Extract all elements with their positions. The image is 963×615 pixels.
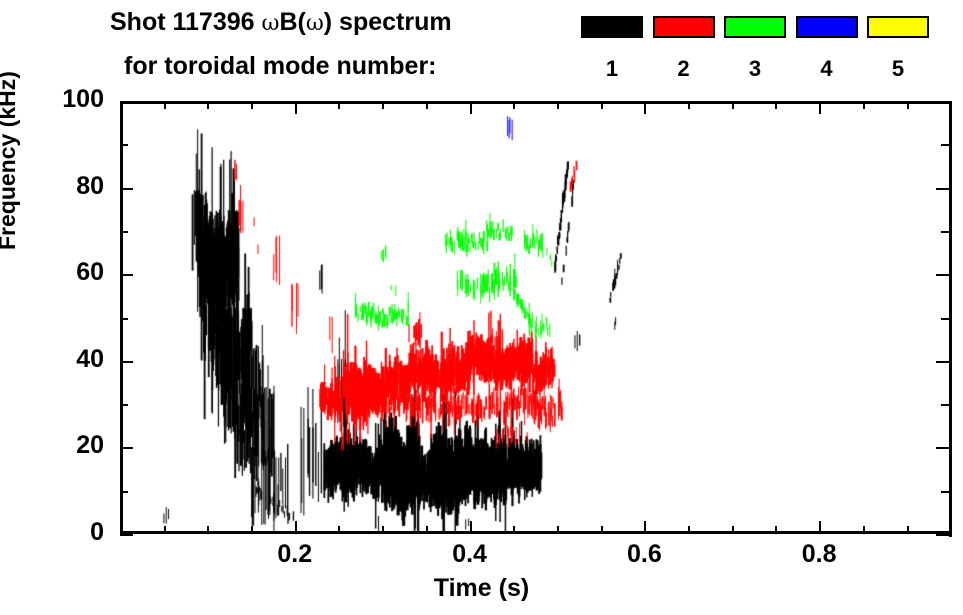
x-tick-major-0.80: [819, 521, 821, 534]
x-tick-top-0.75: [775, 101, 777, 109]
x-tick-label-0.4: 0.4: [425, 540, 515, 569]
y-tick-major-0: [120, 534, 133, 536]
x-tick-top-0.50: [557, 101, 559, 109]
y-tick-major-40: [120, 361, 133, 363]
x-tick-top-0.05: [164, 101, 166, 109]
x-tick-top-0.85: [863, 101, 865, 109]
x-tick-major-0.20: [295, 521, 297, 534]
y-tick-label-20: 20: [42, 431, 104, 460]
y-tick-major-100: [120, 101, 133, 103]
x-tick-top-0.35: [426, 101, 428, 109]
title-prefix: Shot 117396: [110, 8, 261, 36]
x-tick-top-0.25: [338, 101, 340, 109]
x-tick-minor-0.55: [601, 526, 603, 534]
y-tick-right-10: [941, 491, 949, 493]
legend-swatch-mode-5: [867, 16, 929, 38]
legend-label-mode-1: 1: [581, 56, 643, 82]
x-tick-top-0.10: [207, 101, 209, 109]
y-tick-right-40: [936, 361, 949, 363]
x-axis-title: Time (s): [0, 574, 963, 603]
x-tick-minor-0.25: [338, 526, 340, 534]
x-tick-minor-0.90: [907, 526, 909, 534]
y-tick-right-70: [941, 231, 949, 233]
y-tick-right-80: [936, 188, 949, 190]
y-tick-label-100: 100: [42, 85, 104, 114]
y-tick-right-20: [936, 447, 949, 449]
spectrogram-figure: Shot 117396 ωB(ω) spectrum for toroidal …: [0, 0, 963, 615]
x-tick-label-0.6: 0.6: [599, 540, 689, 569]
y-tick-minor-50: [120, 318, 128, 320]
plot-frame: [120, 101, 952, 534]
x-tick-top-0.55: [601, 101, 603, 109]
y-tick-label-80: 80: [42, 172, 104, 201]
x-tick-minor-0.05: [164, 526, 166, 534]
y-tick-major-60: [120, 274, 133, 276]
x-tick-minor-0.35: [426, 526, 428, 534]
legend-caption: for toroidal mode number:: [124, 52, 437, 81]
x-tick-minor-0.45: [513, 526, 515, 534]
x-tick-minor-0.30: [382, 526, 384, 534]
x-tick-major-0.40: [470, 521, 472, 534]
y-tick-label-40: 40: [42, 345, 104, 374]
legend-swatch-mode-3: [724, 16, 786, 38]
x-tick-top-0.95: [950, 101, 952, 109]
x-tick-minor-0.10: [207, 526, 209, 534]
x-tick-top-0.40: [470, 101, 472, 114]
legend-label-mode-4: 4: [796, 56, 858, 82]
x-tick-label-0.2: 0.2: [250, 540, 340, 569]
x-tick-top-0.90: [907, 101, 909, 109]
y-tick-minor-10: [120, 491, 128, 493]
x-tick-top-0.45: [513, 101, 515, 109]
x-tick-top-0.60: [644, 101, 646, 114]
x-tick-top-0.20: [295, 101, 297, 114]
y-tick-right-60: [936, 274, 949, 276]
x-tick-minor-0.75: [775, 526, 777, 534]
title-suffix: ) spectrum: [324, 8, 452, 36]
legend-label-mode-2: 2: [653, 56, 715, 82]
x-tick-top-0.65: [688, 101, 690, 109]
x-tick-minor-0.15: [251, 526, 253, 534]
legend-label-mode-5: 5: [867, 56, 929, 82]
x-tick-minor-0.95: [950, 526, 952, 534]
x-tick-label-0.8: 0.8: [774, 540, 864, 569]
y-tick-minor-30: [120, 404, 128, 406]
y-tick-right-90: [941, 144, 949, 146]
y-axis-title: Frequency (kHz): [0, 71, 21, 250]
x-tick-top-0.80: [819, 101, 821, 114]
y-tick-label-0: 0: [42, 518, 104, 547]
page-title: Shot 117396 ωB(ω) spectrum: [110, 8, 452, 37]
axis-top: [120, 101, 952, 104]
y-tick-right-0: [936, 534, 949, 536]
x-tick-minor-0.85: [863, 526, 865, 534]
axis-right: [949, 101, 952, 537]
legend-swatch-mode-2: [653, 16, 715, 38]
omega-symbol-2: ω: [306, 11, 324, 36]
legend-swatch-mode-4: [796, 16, 858, 38]
legend-label-mode-3: 3: [724, 56, 786, 82]
title-mid: B(: [279, 8, 305, 36]
x-tick-minor-0.65: [688, 526, 690, 534]
x-tick-top-0.30: [382, 101, 384, 109]
x-tick-minor-0.70: [732, 526, 734, 534]
y-tick-major-20: [120, 447, 133, 449]
legend-swatch-mode-1: [581, 16, 643, 38]
y-tick-right-50: [941, 318, 949, 320]
y-tick-minor-90: [120, 144, 128, 146]
y-tick-right-100: [936, 101, 949, 103]
y-tick-major-80: [120, 188, 133, 190]
y-tick-minor-70: [120, 231, 128, 233]
x-tick-major-0.60: [644, 521, 646, 534]
x-tick-minor-0.50: [557, 526, 559, 534]
y-tick-label-60: 60: [42, 258, 104, 287]
x-tick-top-0.70: [732, 101, 734, 109]
x-tick-top-0.15: [251, 101, 253, 109]
y-tick-right-30: [941, 404, 949, 406]
omega-symbol-1: ω: [261, 11, 279, 36]
